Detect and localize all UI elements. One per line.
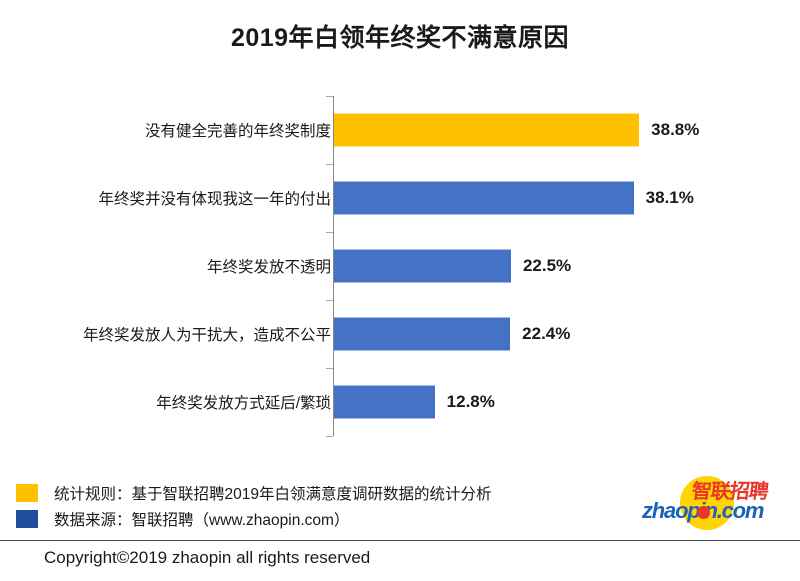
chart-legend: 统计规则：基于智联招聘2019年白领满意度调研数据的统计分析 数据来源：智联招聘… [16,480,656,532]
bar-row: 年终奖发放人为干扰大，造成不公平22.4% [0,300,800,368]
copyright-text: Copyright©2019 zhaopin all rights reserv… [44,548,370,568]
bar-value-label: 38.1% [646,188,694,208]
chart-page: 2019年白领年终奖不满意原因 没有健全完善的年终奖制度38.8%年终奖并没有体… [0,0,800,581]
bar-value-label: 12.8% [447,392,495,412]
bar-2 [334,182,634,215]
logo-dot-icon [697,506,710,519]
bar-category-label: 年终奖发放方式延后/繁琐 [156,391,331,413]
bar-category-label: 年终奖发放不透明 [207,255,331,277]
legend-label-statistics-rule: 统计规则：基于智联招聘2019年白领满意度调研数据的统计分析 [54,482,491,504]
bar-row: 没有健全完善的年终奖制度38.8% [0,96,800,164]
bar-value-label: 22.4% [522,324,570,344]
legend-swatch-yellow [16,484,38,502]
zhaopin-logo: 智联招聘 zhaopin.com [640,474,792,532]
bar-4 [334,318,510,351]
legend-swatch-blue [16,510,38,528]
bar-category-label: 没有健全完善的年终奖制度 [145,119,331,141]
bar-value-label: 38.8% [651,120,699,140]
bar-5 [334,386,435,419]
chart-plot-area: 没有健全完善的年终奖制度38.8%年终奖并没有体现我这一年的付出38.1%年终奖… [0,96,800,440]
footer-divider [0,540,800,541]
bar-category-label: 年终奖并没有体现我这一年的付出 [98,187,331,209]
bar-row: 年终奖并没有体现我这一年的付出38.1% [0,164,800,232]
bar-3 [334,250,511,283]
legend-label-data-source: 数据来源：智联招聘（www.zhaopin.com） [54,508,349,530]
bar-value-label: 22.5% [523,256,571,276]
bar-rows: 没有健全完善的年终奖制度38.8%年终奖并没有体现我这一年的付出38.1%年终奖… [0,96,800,440]
bar-row: 年终奖发放不透明22.5% [0,232,800,300]
bar-row: 年终奖发放方式延后/繁琐12.8% [0,368,800,436]
page-title: 2019年白领年终奖不满意原因 [0,18,800,54]
bar-1 [334,114,639,147]
legend-item-statistics-rule: 统计规则：基于智联招聘2019年白领满意度调研数据的统计分析 [16,480,656,506]
legend-item-data-source: 数据来源：智联招聘（www.zhaopin.com） [16,506,656,532]
bar-category-label: 年终奖发放人为干扰大，造成不公平 [83,323,331,345]
